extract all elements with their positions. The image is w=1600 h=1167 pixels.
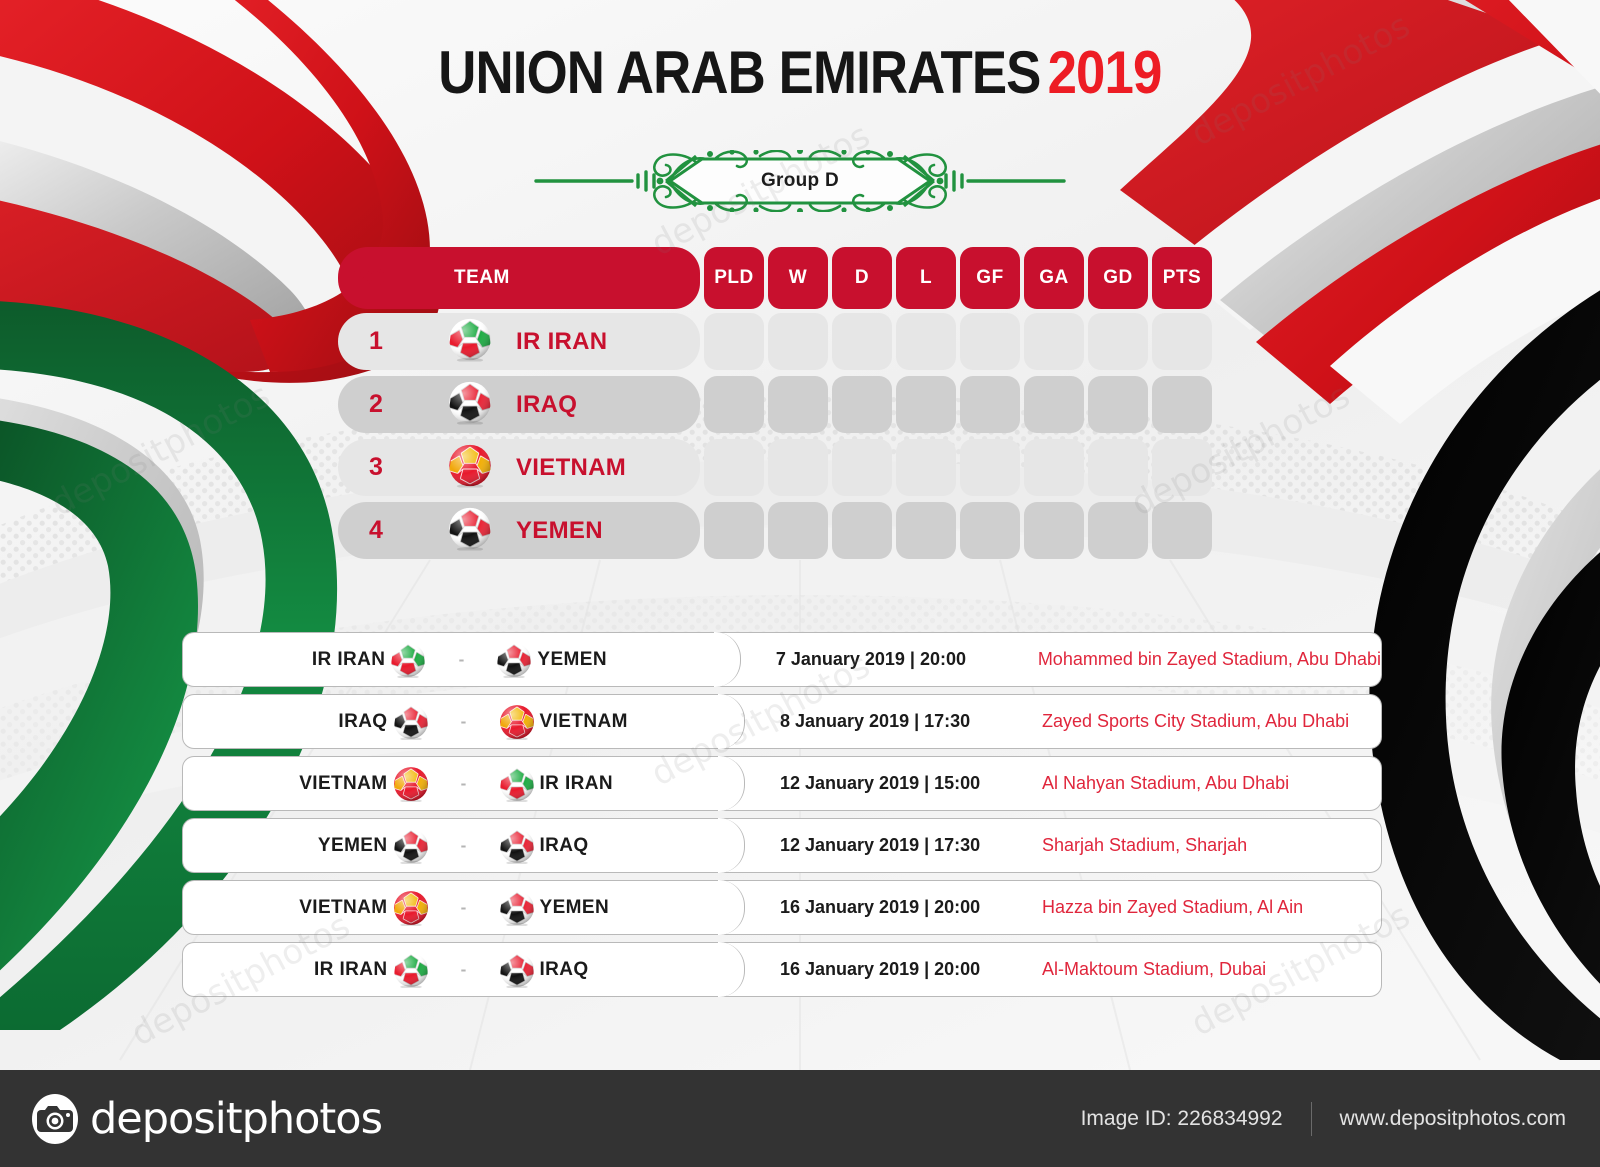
fixture-away-ball bbox=[491, 642, 537, 678]
column-header-team: TEAM bbox=[384, 247, 700, 309]
stat-gd bbox=[1088, 313, 1148, 370]
fixture-teams: IRAQ - bbox=[182, 694, 744, 749]
ball-iraq-icon bbox=[499, 828, 535, 864]
stat-pld bbox=[704, 439, 764, 496]
stat-gd bbox=[1088, 376, 1148, 433]
fixture-datetime: 7 January 2019 | 20:00 bbox=[776, 649, 1038, 670]
stat-w bbox=[768, 439, 828, 496]
stat-l bbox=[896, 502, 956, 559]
fixture-datetime: 12 January 2019 | 15:00 bbox=[780, 773, 1042, 794]
column-header-d: D bbox=[832, 247, 892, 309]
fixture-away-team: IRAQ bbox=[540, 835, 690, 857]
row-team: VIETNAM bbox=[384, 439, 700, 496]
stat-gf bbox=[960, 502, 1020, 559]
fixture-away-ball bbox=[494, 828, 540, 864]
row-team: IR IRAN bbox=[384, 313, 700, 370]
stat-pld bbox=[704, 313, 764, 370]
stat-pts bbox=[1152, 313, 1212, 370]
column-header-w: W bbox=[768, 247, 828, 309]
fixture-away-team: IR IRAN bbox=[540, 773, 690, 795]
column-header-pts: PTS bbox=[1152, 247, 1212, 309]
fixture-venue: Al-Maktoum Stadium, Dubai bbox=[1042, 959, 1266, 980]
fixture-details: 12 January 2019 | 15:00 Al Nahyan Stadiu… bbox=[744, 756, 1382, 811]
stat-d bbox=[832, 313, 892, 370]
fixture-datetime: 12 January 2019 | 17:30 bbox=[780, 835, 1042, 856]
ball-iran-icon bbox=[448, 317, 492, 361]
fixture-separator: - bbox=[434, 774, 494, 794]
stat-w bbox=[768, 502, 828, 559]
ball-iraq-icon bbox=[499, 952, 535, 988]
depositphotos-logo: depositphotos bbox=[30, 1094, 382, 1144]
ball-iran-icon bbox=[499, 766, 535, 802]
fixture-teams: IR IRAN bbox=[182, 632, 740, 687]
ball-iran-icon bbox=[390, 642, 426, 678]
stat-w bbox=[768, 376, 828, 433]
column-header-pld: PLD bbox=[704, 247, 764, 309]
team-name: IR IRAN bbox=[516, 328, 607, 356]
fixture-away-team: IRAQ bbox=[540, 959, 690, 981]
stat-pts bbox=[1152, 376, 1212, 433]
website-link[interactable]: www.depositphotos.com bbox=[1340, 1107, 1566, 1131]
fixture-away-team: YEMEN bbox=[537, 649, 687, 671]
column-header-l: L bbox=[896, 247, 956, 309]
poster-title-area: UNION ARAB EMIRATES2019 bbox=[0, 38, 1600, 107]
camera-icon bbox=[30, 1094, 80, 1144]
stat-gf bbox=[960, 313, 1020, 370]
fixture-separator: - bbox=[434, 836, 494, 856]
ball-vietnam-icon bbox=[499, 704, 535, 740]
table-header-row: POS TEAM PLD W D L GF GA GD PTS bbox=[338, 247, 1238, 309]
ball-iran-icon bbox=[393, 952, 429, 988]
fixture-home-team: IRAQ bbox=[238, 711, 388, 733]
row-team: IRAQ bbox=[384, 376, 700, 433]
fixture-teams: VIETNAM bbox=[182, 756, 744, 811]
stat-ga bbox=[1024, 502, 1084, 559]
fixture-home-team: IR IRAN bbox=[238, 959, 388, 981]
fixture-datetime: 16 January 2019 | 20:00 bbox=[780, 959, 1042, 980]
stat-ga bbox=[1024, 313, 1084, 370]
fixture-datetime: 8 January 2019 | 17:30 bbox=[780, 711, 1042, 732]
footer-divider bbox=[1311, 1102, 1312, 1136]
ball-yemen-icon bbox=[499, 890, 535, 926]
stat-pld bbox=[704, 502, 764, 559]
team-name: YEMEN bbox=[516, 517, 603, 545]
fixture-details: 8 January 2019 | 17:30 Zayed Sports City… bbox=[744, 694, 1382, 749]
ball-vietnam-icon bbox=[393, 766, 429, 802]
stat-l bbox=[896, 313, 956, 370]
image-id-text: Image ID: 226834992 bbox=[1081, 1107, 1283, 1131]
fixture-home-team: VIETNAM bbox=[238, 773, 388, 795]
column-header-ga: GA bbox=[1024, 247, 1084, 309]
ball-yemen-icon bbox=[496, 642, 532, 678]
team-ball bbox=[448, 380, 492, 429]
group-banner: Group D bbox=[0, 150, 1600, 212]
page-title: UNION ARAB EMIRATES2019 bbox=[438, 38, 1161, 107]
title-year-text: 2019 bbox=[1048, 39, 1162, 106]
fixtures-list: IR IRAN bbox=[182, 632, 1382, 1004]
fixture-venue: Zayed Sports City Stadium, Abu Dhabi bbox=[1042, 711, 1349, 732]
fixture-away-team: YEMEN bbox=[540, 897, 690, 919]
depositphotos-footer: depositphotos Image ID: 226834992 www.de… bbox=[0, 1070, 1600, 1167]
fixture-venue: Al Nahyan Stadium, Abu Dhabi bbox=[1042, 773, 1289, 794]
stat-l bbox=[896, 439, 956, 496]
fixture-details: 16 January 2019 | 20:00 Al-Maktoum Stadi… bbox=[744, 942, 1382, 997]
fixture-row[interactable]: VIETNAM bbox=[182, 880, 1382, 935]
fixture-teams: IR IRAN bbox=[182, 942, 744, 997]
fixture-home-ball bbox=[388, 704, 434, 740]
fixture-away-ball bbox=[494, 766, 540, 802]
ball-yemen-icon bbox=[448, 506, 492, 550]
title-main-text: UNION ARAB EMIRATES bbox=[438, 39, 1040, 106]
team-ball bbox=[448, 443, 492, 492]
table-row: 3 bbox=[338, 439, 1238, 496]
depositphotos-wordmark: depositphotos bbox=[90, 1094, 382, 1144]
stat-gf bbox=[960, 376, 1020, 433]
fixture-separator: - bbox=[434, 712, 494, 732]
ball-iraq-icon bbox=[393, 704, 429, 740]
fixture-separator: - bbox=[434, 898, 494, 918]
footer-meta: Image ID: 226834992 www.depositphotos.co… bbox=[1081, 1102, 1566, 1136]
fixture-row[interactable]: IRAQ - bbox=[182, 694, 1382, 749]
stat-d bbox=[832, 502, 892, 559]
team-name: VIETNAM bbox=[516, 454, 626, 482]
fixture-separator: - bbox=[431, 650, 491, 670]
group-label: Group D bbox=[761, 170, 839, 192]
row-team: YEMEN bbox=[384, 502, 700, 559]
stat-gd bbox=[1088, 439, 1148, 496]
ball-vietnam-icon bbox=[393, 890, 429, 926]
fixture-datetime: 16 January 2019 | 20:00 bbox=[780, 897, 1042, 918]
fixture-row[interactable]: IR IRAN bbox=[182, 942, 1382, 997]
stat-pld bbox=[704, 376, 764, 433]
team-ball bbox=[448, 317, 492, 366]
team-name: IRAQ bbox=[516, 391, 577, 419]
fixture-venue: Sharjah Stadium, Sharjah bbox=[1042, 835, 1247, 856]
stat-w bbox=[768, 313, 828, 370]
ball-iraq-icon bbox=[448, 380, 492, 424]
ball-vietnam-icon bbox=[448, 443, 492, 487]
fixture-home-ball bbox=[385, 642, 431, 678]
fixture-away-ball bbox=[494, 952, 540, 988]
fixture-home-team: VIETNAM bbox=[238, 897, 388, 919]
fixture-row[interactable]: VIETNAM bbox=[182, 756, 1382, 811]
team-ball bbox=[448, 506, 492, 555]
stat-gf bbox=[960, 439, 1020, 496]
fixture-away-team: VIETNAM bbox=[540, 711, 690, 733]
fixture-home-team: YEMEN bbox=[238, 835, 388, 857]
stat-gd bbox=[1088, 502, 1148, 559]
fixture-home-ball bbox=[388, 766, 434, 802]
column-header-gf: GF bbox=[960, 247, 1020, 309]
fixture-teams: VIETNAM bbox=[182, 880, 744, 935]
fixture-row[interactable]: YEMEN - bbox=[182, 818, 1382, 873]
fixture-separator: - bbox=[434, 960, 494, 980]
fixture-teams: YEMEN - bbox=[182, 818, 744, 873]
stat-ga bbox=[1024, 439, 1084, 496]
fixture-venue: Hazza bin Zayed Stadium, Al Ain bbox=[1042, 897, 1303, 918]
stat-d bbox=[832, 439, 892, 496]
ball-yemen-icon bbox=[393, 828, 429, 864]
fixture-home-ball bbox=[388, 828, 434, 864]
poster-canvas: depositphotos depositphotos depositphoto… bbox=[0, 0, 1600, 1167]
fixture-row[interactable]: IR IRAN bbox=[182, 632, 1382, 687]
fixture-home-ball bbox=[388, 952, 434, 988]
stat-l bbox=[896, 376, 956, 433]
fixture-away-ball bbox=[494, 890, 540, 926]
fixture-home-ball bbox=[388, 890, 434, 926]
standings-table: POS TEAM PLD W D L GF GA GD PTS 1 bbox=[338, 247, 1238, 565]
fixture-away-ball bbox=[494, 704, 540, 740]
fixture-details: 16 January 2019 | 20:00 Hazza bin Zayed … bbox=[744, 880, 1382, 935]
fixture-home-team: IR IRAN bbox=[235, 649, 385, 671]
fixture-venue: Mohammed bin Zayed Stadium, Abu Dhabi bbox=[1038, 649, 1381, 670]
fixture-details: 7 January 2019 | 20:00 Mohammed bin Zaye… bbox=[740, 632, 1382, 687]
table-row: 4 bbox=[338, 502, 1238, 559]
column-header-gd: GD bbox=[1088, 247, 1148, 309]
fixture-details: 12 January 2019 | 17:30 Sharjah Stadium,… bbox=[744, 818, 1382, 873]
table-row: 2 bbox=[338, 376, 1238, 433]
stat-pts bbox=[1152, 502, 1212, 559]
stat-ga bbox=[1024, 376, 1084, 433]
table-row: 1 bbox=[338, 313, 1238, 370]
stat-d bbox=[832, 376, 892, 433]
stat-pts bbox=[1152, 439, 1212, 496]
